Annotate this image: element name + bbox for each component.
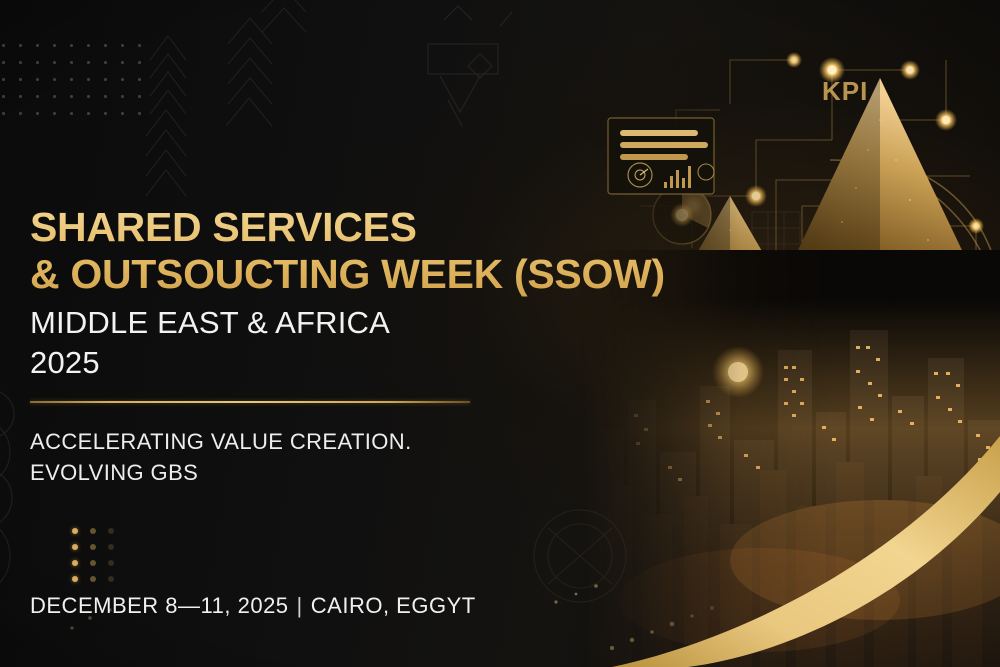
event-tagline: ACCELERATING VALUE CREATION. EVOLVING GB… [30,426,412,488]
subheadline-region: MIDDLE EAST & AFRICA [30,303,390,343]
event-headline: SHARED SERVICES & OUTSOUCTING WEEK (SSOW… [30,204,665,298]
event-subheadline: MIDDLE EAST & AFRICA 2025 [30,303,390,383]
event-date: DECEMBER 8—11, 2025 [30,593,289,618]
gold-divider-rule [30,401,470,403]
event-banner: KPI SHARED SERVICES & OUTSOUCTING WEEK (… [0,0,1000,667]
tagline-line-2: EVOLVING GBS [30,457,412,488]
subheadline-year: 2025 [30,343,390,383]
headline-line-1: SHARED SERVICES [30,204,665,251]
event-location: CAIRO, EGGYT [311,593,476,618]
tagline-line-1: ACCELERATING VALUE CREATION. [30,426,412,457]
headline-line-2: & OUTSOUCTING WEEK (SSOW) [30,251,665,298]
event-dateline: DECEMBER 8—11, 2025|CAIRO, EGGYT [30,592,476,620]
banner-content: SHARED SERVICES & OUTSOUCTING WEEK (SSOW… [30,0,670,667]
dateline-separator: | [289,593,311,618]
